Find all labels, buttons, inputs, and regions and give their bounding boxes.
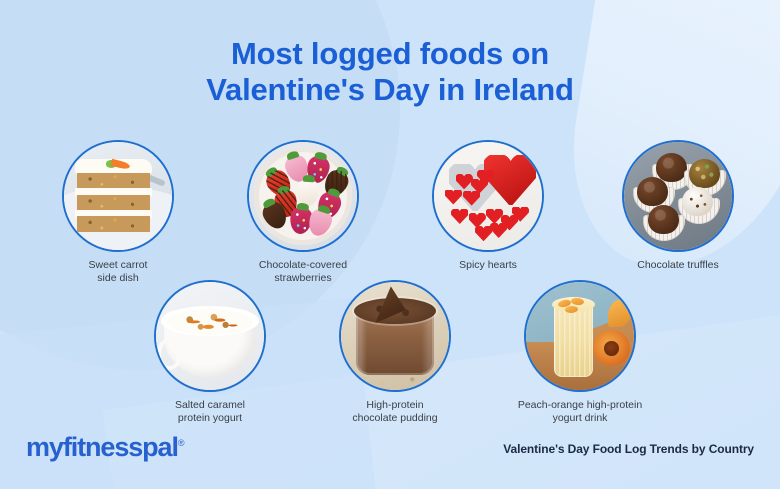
food-image-circle <box>247 140 359 252</box>
myfitnesspal-logo: myfitnesspal® <box>26 432 185 463</box>
logo-wordmark: myfitnesspal <box>26 432 178 462</box>
food-caption-line-1: Chocolate truffles <box>637 259 719 271</box>
food-image-circle <box>524 280 636 392</box>
peach-yogurt-drink-photo <box>526 282 634 390</box>
chocolate-pudding-photo <box>341 282 449 390</box>
food-caption-line-2: side dish <box>97 272 138 284</box>
caramel-yogurt-photo <box>156 282 264 390</box>
food-caption-line-2: protein yogurt <box>178 412 242 424</box>
food-caption: High-protein chocolate pudding <box>320 399 470 425</box>
footer-note: Valentine's Day Food Log Trends by Count… <box>503 442 754 456</box>
food-caption: Salted caramel protein yogurt <box>135 399 285 425</box>
chocolate-strawberries-photo <box>249 142 357 250</box>
food-item-caramel-yogurt: Salted caramel protein yogurt <box>135 280 285 425</box>
food-caption-line-1: Salted caramel <box>175 399 245 411</box>
food-caption-line-2: chocolate pudding <box>352 412 437 424</box>
food-image-circle <box>154 280 266 392</box>
food-item-peach-yogurt-drink: Peach-orange high-protein yogurt drink <box>505 280 655 425</box>
food-image-circle <box>339 280 451 392</box>
food-item-chocolate-strawberries: Chocolate-covered strawberries <box>228 140 378 285</box>
food-caption: Spicy hearts <box>413 259 563 272</box>
chocolate-truffles-photo <box>624 142 732 250</box>
food-caption-line-1: Spicy hearts <box>459 259 517 271</box>
food-caption-line-1: Peach-orange high-protein <box>518 399 642 411</box>
food-item-spicy-hearts: Spicy hearts <box>413 140 563 272</box>
food-item-carrot-cake: Sweet carrot side dish <box>43 140 193 285</box>
page-title-line-1: Most logged foods on <box>231 36 549 71</box>
food-item-chocolate-pudding: High-protein chocolate pudding <box>320 280 470 425</box>
food-image-circle <box>622 140 734 252</box>
page-title: Most logged foods on Valentine's Day in … <box>0 36 780 108</box>
food-image-circle <box>62 140 174 252</box>
food-caption-line-1: Sweet carrot <box>89 259 148 271</box>
food-item-chocolate-truffles: Chocolate truffles <box>603 140 753 272</box>
carrot-cake-photo <box>64 142 172 250</box>
registered-trademark-icon: ® <box>178 438 185 448</box>
food-caption: Chocolate truffles <box>603 259 753 272</box>
heart-candies-photo <box>434 142 542 250</box>
food-caption-line-2: yogurt drink <box>553 412 608 424</box>
food-image-circle <box>432 140 544 252</box>
food-caption-line-1: Chocolate-covered <box>259 259 347 271</box>
food-caption: Peach-orange high-protein yogurt drink <box>505 399 655 425</box>
food-caption-line-1: High-protein <box>366 399 423 411</box>
infographic-poster: Most logged foods on Valentine's Day in … <box>0 0 780 489</box>
page-title-line-2: Valentine's Day in Ireland <box>0 72 780 108</box>
